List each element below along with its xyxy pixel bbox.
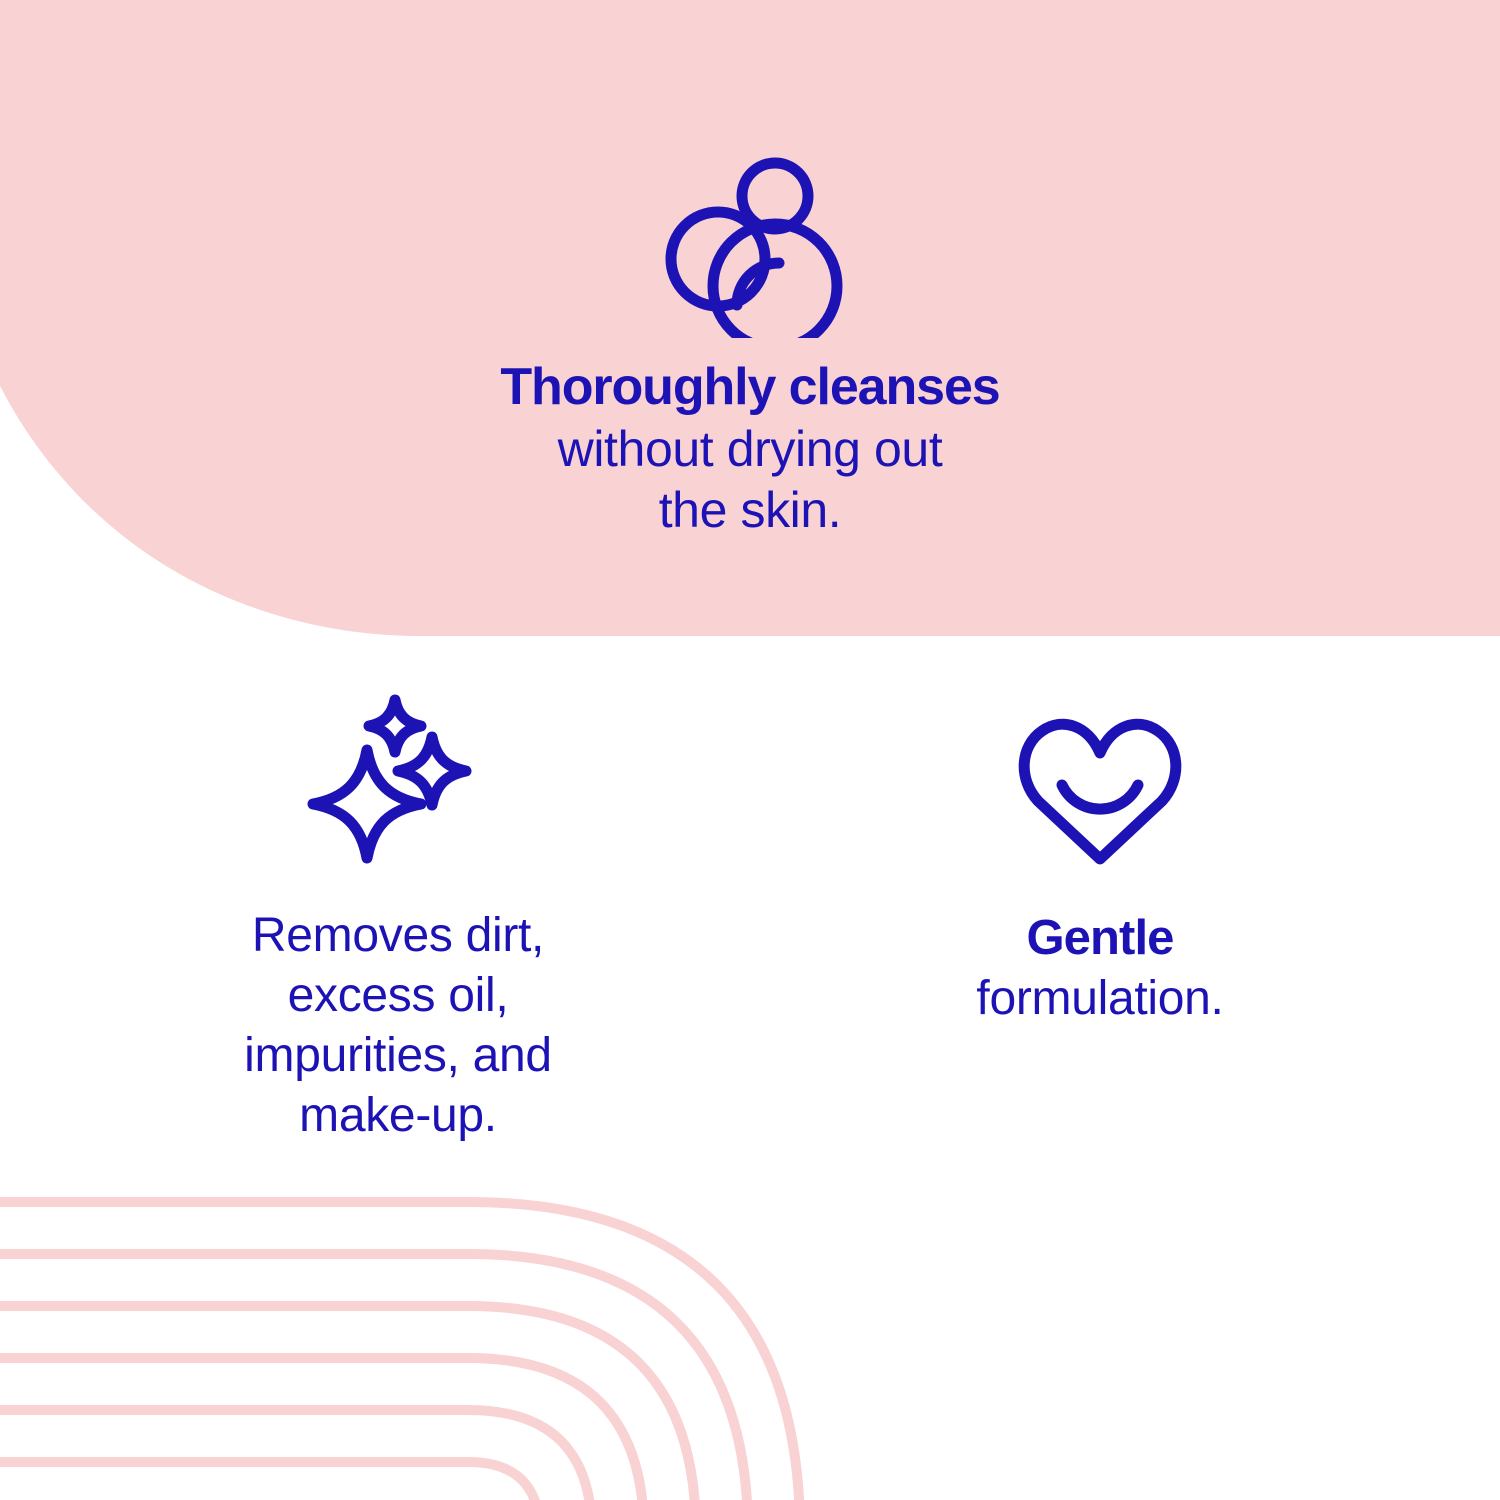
- feature-right-line-1: formulation.: [760, 969, 1440, 1029]
- hero-block: Thoroughly cleanses without drying out t…: [0, 148, 1500, 541]
- hero-headline-line3: the skin.: [0, 480, 1500, 541]
- hero-headline: Thoroughly cleanses without drying out t…: [0, 356, 1500, 541]
- feature-right-bold: Gentle: [1026, 911, 1173, 965]
- hero-headline-bold: Thoroughly cleanses: [500, 358, 999, 416]
- feature-left-line-4: make-up.: [36, 1086, 760, 1146]
- feature-gentle-formulation: Gentle formulation.: [760, 686, 1500, 1029]
- poster-canvas: Thoroughly cleanses without drying out t…: [0, 0, 1500, 1500]
- feature-left-line-1: Removes dirt,: [36, 906, 760, 966]
- feature-left-line-3: impurities, and: [36, 1026, 760, 1086]
- feature-right-text: Gentle formulation.: [760, 908, 1440, 1029]
- bubbles-icon: [0, 148, 1500, 338]
- sparkles-icon-wrap: [36, 686, 760, 866]
- content-layer: Thoroughly cleanses without drying out t…: [0, 0, 1500, 1500]
- features-row: Removes dirt, excess oil, impurities, an…: [0, 686, 1500, 1146]
- sparkles-icon: [303, 686, 493, 866]
- hero-headline-line2: without drying out: [0, 419, 1500, 480]
- feature-left-line-2: excess oil,: [36, 966, 760, 1026]
- feature-removes-dirt: Removes dirt, excess oil, impurities, an…: [0, 686, 760, 1146]
- heart-smile-icon-wrap: [760, 686, 1440, 866]
- feature-left-text: Removes dirt, excess oil, impurities, an…: [36, 906, 760, 1146]
- heart-smile-icon: [1010, 701, 1190, 866]
